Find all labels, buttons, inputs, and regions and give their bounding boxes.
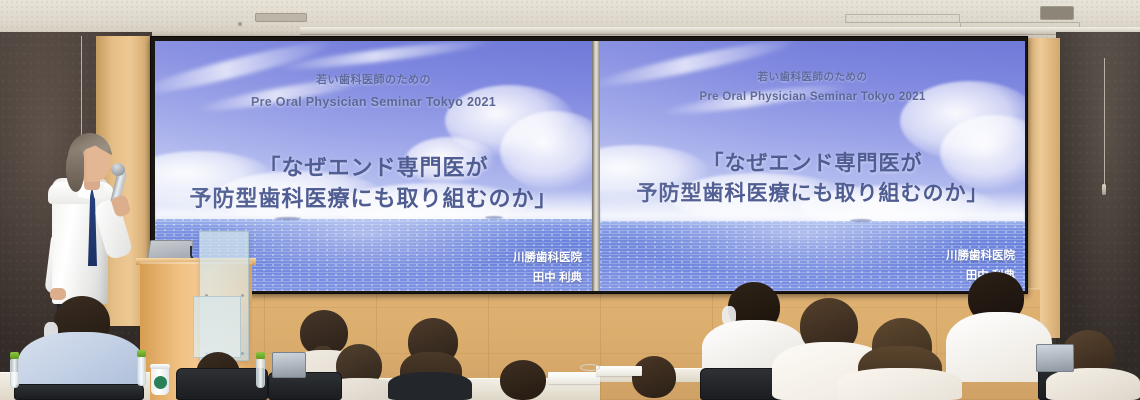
shield-screw [241,352,244,355]
water-bottle [256,358,265,388]
coffee-cup [151,368,169,395]
ceiling-vent-right [1040,6,1074,20]
ceiling-vent-left [255,13,307,22]
head [500,360,546,400]
projection-screen-assembly: 若い歯科医師のための Pre Oral Physician Seminar To… [150,36,1028,294]
ceiling-rail [300,27,1140,35]
right-projection-screen: 若い歯科医師のための Pre Oral Physician Seminar To… [600,41,1025,291]
slide-main-line-1: 「なぜエンド専門医が [155,150,592,182]
coffee-cup-logo [154,376,167,389]
head [632,356,676,398]
slide-credit-name: 田中 利典 [600,267,1025,283]
speaker-hand-resting [50,288,66,300]
chair [176,368,268,400]
bottle-cap [137,350,146,357]
chair [14,384,144,400]
slide-main-line-2: 予防型歯科医療にも取り組むのか」 [155,181,592,213]
slide-text-right: 若い歯科医師のための Pre Oral Physician Seminar To… [600,41,1025,291]
body [1046,368,1140,400]
body [388,372,472,400]
slide-main-line-1: 「なぜエンド専門医が [600,147,1025,177]
slide-english-line: Pre Oral Physician Seminar Tokyo 2021 [600,91,1025,103]
bottle-cap [10,352,19,359]
attendee-laptop [272,352,306,378]
body [838,368,962,400]
slide-kicker: 若い歯科医師のための [155,71,592,87]
eyeglasses [580,364,600,371]
handout-papers [596,366,642,376]
shield-screw [241,294,244,297]
screen-divider [592,41,600,291]
slide-english-line: Pre Oral Physician Seminar Tokyo 2021 [155,95,592,109]
handout-papers [548,372,600,384]
lecture-hall-photo: 若い歯科医師のための Pre Oral Physician Seminar To… [0,0,1140,400]
water-bottle [10,358,19,388]
speaker-hair-side [66,150,84,192]
coffee-cup-lid [150,364,170,369]
attendee-laptop [1036,344,1074,372]
bottle-cap [256,352,265,359]
ceiling-dot [238,22,242,26]
slide-main-line-2: 予防型歯科医療にも取り組むのか」 [600,177,1025,207]
slide-kicker: 若い歯科医師のための [600,69,1025,84]
wall-glass-panel [193,296,241,358]
hanging-knob-right [1102,184,1106,195]
slide-credit-clinic: 川勝歯科医院 [600,247,1025,263]
water-bottle [137,356,146,386]
hanging-wire-right [1104,58,1105,186]
ceiling-slot-1 [845,14,960,23]
